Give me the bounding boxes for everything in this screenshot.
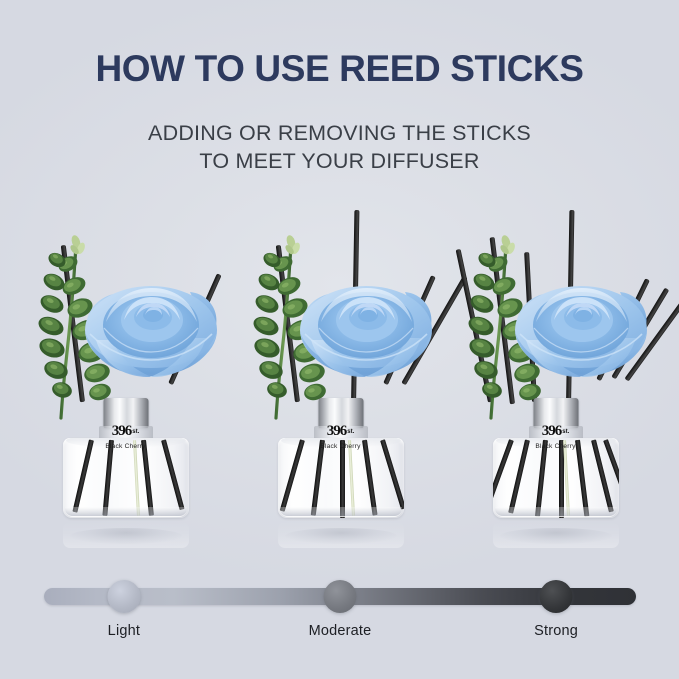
light-diffuser: 396st.Black Cherry (18, 222, 233, 552)
bottle-shadow (285, 528, 397, 544)
bottle-cap (103, 398, 148, 428)
reed-stick-submerged (141, 440, 154, 516)
glass-base (495, 507, 617, 517)
bottle-glass-body (63, 438, 189, 518)
diffuser-row: 396st.Black Cherry (0, 222, 679, 552)
slider-knob-moderate[interactable] (324, 580, 357, 613)
rose-flower (76, 270, 226, 395)
rose-flower-svg (291, 270, 441, 390)
reed-stick-submerged (508, 439, 530, 513)
reed-stick-submerged (310, 440, 324, 516)
reed-stick-submerged (72, 439, 94, 512)
reed-stick-submerged (575, 440, 589, 517)
flower-stem-submerged (348, 440, 354, 516)
intensity-slider[interactable]: LightModerateStrong (0, 578, 679, 658)
diffuser-bottle: 396st.Black Cherry (493, 398, 619, 528)
diffuser-bottle: 396st.Black Cherry (278, 398, 404, 528)
reed-stick-submerged (493, 439, 514, 508)
page-subtitle: ADDING OR REMOVING THE STICKS TO MEET YO… (0, 120, 679, 175)
rose-flower-svg (76, 270, 226, 390)
infographic-page: HOW TO USE REED STICKS ADDING OR REMOVIN… (0, 0, 679, 679)
bottle-shadow (500, 528, 612, 544)
reed-stick-submerged (534, 440, 547, 517)
bottle-cap (318, 398, 363, 428)
reed-stick-submerged (161, 439, 184, 510)
rose-flower-svg (506, 270, 656, 390)
slider-knob-light[interactable] (107, 580, 140, 613)
page-title: HOW TO USE REED STICKS (0, 50, 679, 87)
bottle-cap (533, 398, 578, 428)
subtitle-line-2: TO MEET YOUR DIFFUSER (0, 148, 679, 176)
bottle-glass-body (278, 438, 404, 518)
diffuser-bottle: 396st.Black Cherry (63, 398, 189, 528)
slider-knob-strong[interactable] (540, 580, 573, 613)
flower-stem-submerged (133, 440, 139, 516)
glass-base (280, 507, 402, 517)
moderate-diffuser: 396st.Black Cherry (233, 222, 448, 552)
subtitle-line-1: ADDING OR REMOVING THE STICKS (0, 120, 679, 148)
reed-stick-submerged (279, 439, 304, 512)
slider-label-light: Light (108, 623, 140, 639)
slider-label-moderate: Moderate (309, 623, 372, 639)
glass-base (65, 507, 187, 517)
reed-stick-submerged (380, 439, 404, 509)
strong-diffuser: 396st.Black Cherry (448, 222, 663, 552)
bottle-glass-body (493, 438, 619, 518)
reed-stick-submerged (362, 440, 378, 516)
rose-flower (506, 270, 656, 395)
bottle-shadow (70, 528, 182, 544)
rose-flower (291, 270, 441, 395)
slider-label-strong: Strong (534, 623, 578, 639)
reed-stick-submerged (102, 440, 114, 516)
